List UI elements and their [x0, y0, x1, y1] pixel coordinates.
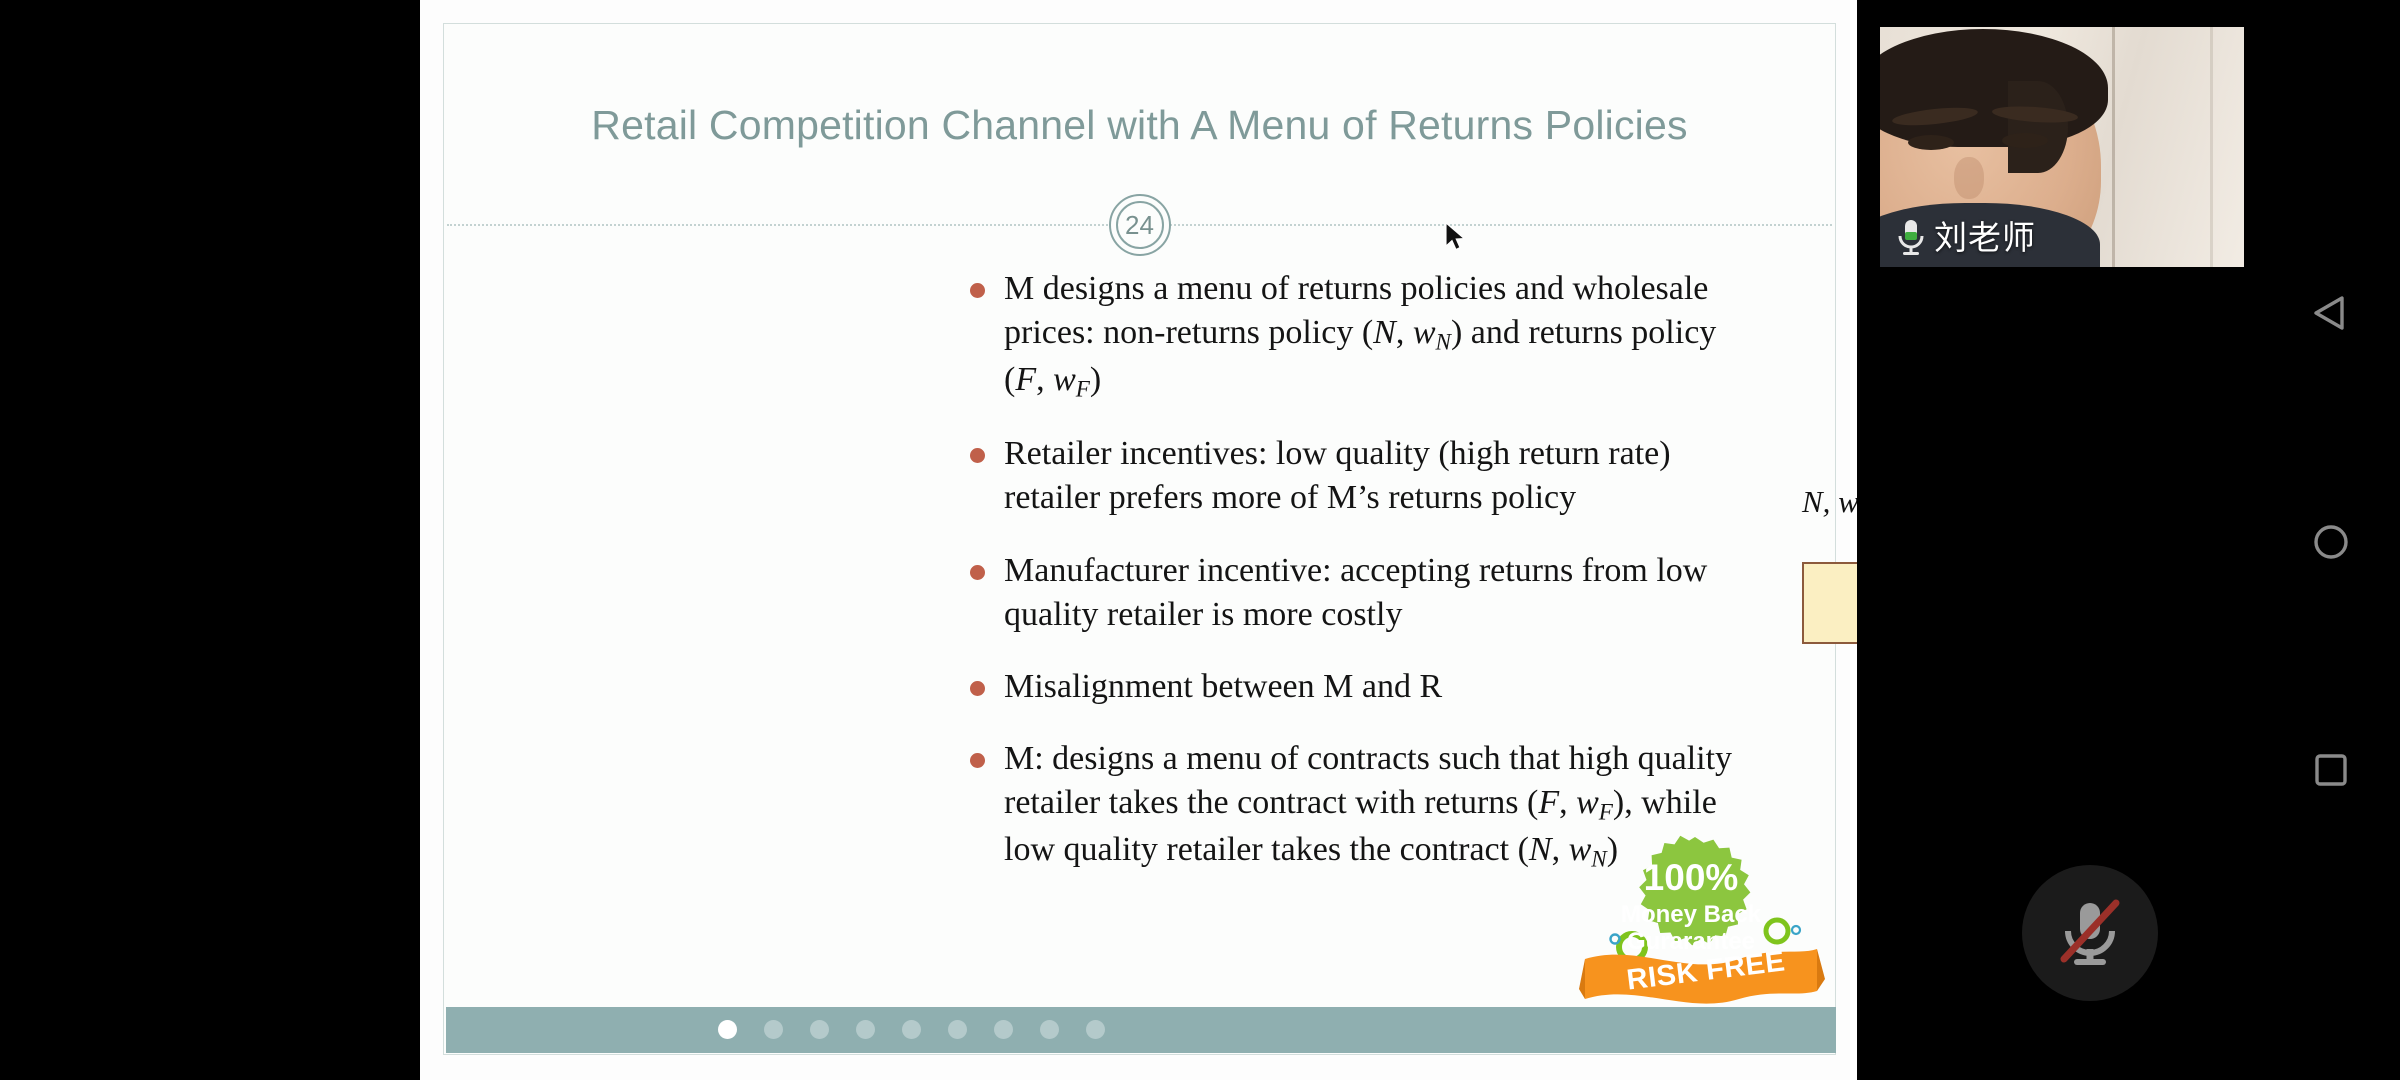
nav-recents-button[interactable]	[2308, 747, 2354, 793]
slide-dot-9[interactable]	[1086, 1020, 1105, 1039]
nav-home-button[interactable]	[2308, 519, 2354, 565]
bullet-manufacturer-incentive: Manufacturer incentive: accepting return…	[962, 549, 1762, 637]
video-participant-tile[interactable]: 刘老师	[1880, 27, 2244, 267]
slide-dot-3[interactable]	[810, 1020, 829, 1039]
slide-dot-1[interactable]	[718, 1020, 737, 1039]
slide-dot-6[interactable]	[948, 1020, 967, 1039]
bullet-retailer-incentives: Retailer incentives: low quality (high r…	[962, 432, 1762, 520]
slide-dot-8[interactable]	[1040, 1020, 1059, 1039]
left-black-gutter	[0, 0, 420, 1080]
slide-footer-bar	[446, 1007, 1836, 1053]
bullet-marker-icon	[970, 448, 985, 463]
bullet-misalignment: Misalignment between M and R	[962, 665, 1762, 709]
screen: Retail Competition Channel with A Menu o…	[0, 0, 2400, 1080]
money-back-guarantee-badge: 100% Money Back Gurarantee RISK FREE	[1577, 831, 1827, 1011]
square-recents-icon	[2308, 747, 2354, 793]
participant-eye-left	[1908, 135, 1954, 150]
badge-money-back-line1: Money Back	[1577, 901, 1805, 928]
wall-seam-1	[2112, 27, 2115, 267]
bullet-list: M designs a menu of returns policies and…	[962, 267, 1762, 902]
slide-progress-dots[interactable]	[446, 1007, 1105, 1053]
bullet-marker-icon	[970, 283, 985, 298]
page-number-text: 24	[1125, 212, 1154, 238]
bullet-marker-icon	[970, 681, 985, 696]
circle-home-icon	[2308, 519, 2354, 565]
slide-title: Retail Competition Channel with A Menu o…	[444, 102, 1835, 149]
slide-dot-2[interactable]	[764, 1020, 783, 1039]
mute-toggle-button[interactable]	[2022, 865, 2158, 1001]
participant-hair	[1880, 29, 2108, 147]
microphone-muted-icon	[2056, 897, 2124, 969]
participant-name-label: 刘老师	[1934, 211, 2036, 259]
badge-percent-text: 100%	[1577, 857, 1805, 899]
triangle-back-icon	[2308, 290, 2354, 336]
participant-nose	[1954, 157, 1984, 199]
bullet-marker-icon	[970, 753, 985, 768]
bullet-menu-design: M designs a menu of returns policies and…	[962, 267, 1762, 404]
bullet-marker-icon	[970, 565, 985, 580]
nav-back-button[interactable]	[2308, 290, 2354, 336]
wall-seam-2	[2210, 27, 2213, 267]
presentation-slide[interactable]: Retail Competition Channel with A Menu o…	[443, 23, 1836, 1055]
page-number-badge: 24	[1109, 194, 1171, 256]
slide-dot-7[interactable]	[994, 1020, 1013, 1039]
microphone-icon	[1894, 217, 1928, 257]
slide-dot-4[interactable]	[856, 1020, 875, 1039]
participant-eye-right	[2002, 133, 2048, 148]
mouse-cursor-icon	[1444, 222, 1470, 254]
slide-dot-5[interactable]	[902, 1020, 921, 1039]
